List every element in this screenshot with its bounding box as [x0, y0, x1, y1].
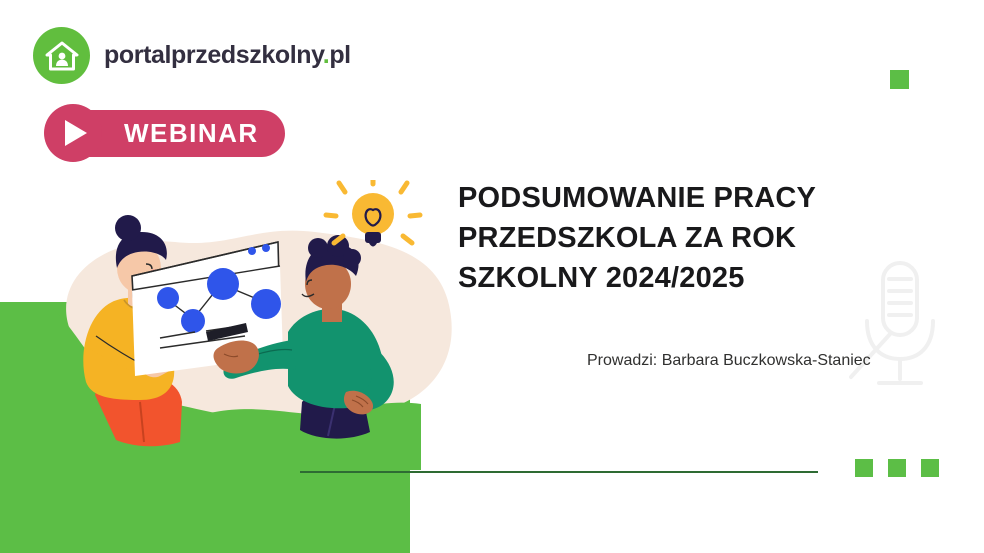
presenter-label: Prowadzi: Barbara Buczkowska-Staniec — [587, 352, 871, 370]
chart-node — [181, 309, 205, 333]
brand-name-main: portalprzedszkolny — [104, 41, 323, 69]
window-dot — [248, 247, 256, 255]
window-dot — [262, 244, 270, 252]
divider-rule — [300, 471, 818, 473]
decor-square — [921, 459, 939, 477]
play-icon[interactable] — [44, 104, 102, 162]
play-triangle — [65, 120, 87, 146]
bulb-glass — [352, 193, 394, 235]
slide-canvas: portalprzedszkolny.pl WEBINAR PODSUMOWAN… — [0, 0, 984, 553]
page-title: PODSUMOWANIE PRACY PRZEDSZKOLA ZA ROK SZ… — [458, 178, 928, 298]
webinar-pill: WEBINAR — [86, 110, 285, 157]
decor-square-top-right — [890, 70, 909, 89]
decor-squares-bottom-right — [855, 459, 939, 477]
house-with-person-icon — [33, 27, 90, 84]
webinar-label: WEBINAR — [124, 118, 259, 149]
brand-name: portalprzedszkolny.pl — [104, 41, 351, 70]
chart-node — [251, 289, 281, 319]
webinar-badge[interactable]: WEBINAR — [44, 104, 285, 162]
right-person-hair-tuft — [308, 238, 328, 258]
brand-name-tld: pl — [329, 41, 350, 69]
decor-square — [855, 459, 873, 477]
illustration — [40, 180, 470, 470]
right-person-hair-tuft — [343, 249, 361, 267]
left-person-hair-bun — [115, 215, 141, 241]
chart-node — [207, 268, 239, 300]
bulb-base — [365, 232, 381, 243]
chart-node — [157, 287, 179, 309]
decor-square — [888, 459, 906, 477]
brand-logo[interactable]: portalprzedszkolny.pl — [33, 27, 351, 84]
lightbulb-icon — [326, 180, 420, 247]
